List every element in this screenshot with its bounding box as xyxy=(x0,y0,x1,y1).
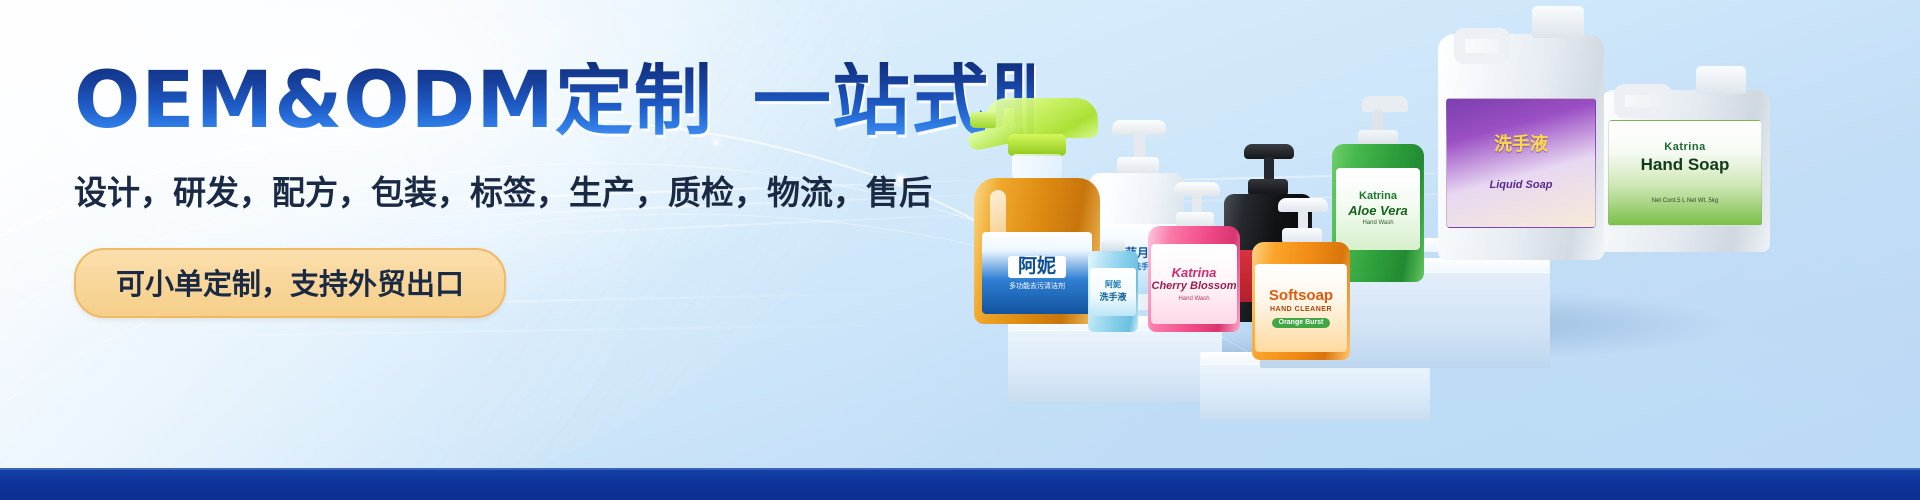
bottle-brand: Softsoap xyxy=(1269,288,1333,304)
jerry-can-label: Katrina Hand Soap Net Cont.5 L Net Wt. 5… xyxy=(1608,120,1762,226)
podium-front-middle xyxy=(1200,364,1430,420)
jerry-can-product: Liquid Soap xyxy=(1490,180,1553,192)
pump-stem xyxy=(1264,157,1274,181)
banner-headline: OEM&ODM定制一站式服务 xyxy=(74,62,1034,140)
product-purple-jerry-can[interactable]: 洗手液 Liquid Soap xyxy=(1438,6,1604,260)
jerry-can-brand: 洗手液 xyxy=(1494,135,1548,154)
spray-bottle-label: 阿妮 多功能去污清洁剂 xyxy=(982,232,1092,314)
product-cherry-blossom-wash[interactable]: Katrina Cherry Blossom Hand Wash xyxy=(1148,182,1240,332)
banner-text-block: OEM&ODM定制一站式服务 设计，研发，配方，包装，标签，生产，质检，物流，售… xyxy=(74,62,1034,318)
podium-front-left xyxy=(1008,330,1222,402)
headline-part-oem: OEM&ODM定制 xyxy=(74,56,713,146)
jerry-can-product: Hand Soap xyxy=(1641,156,1730,174)
jerry-can-brand: Katrina xyxy=(1664,142,1705,154)
product-green-jerry-can[interactable]: Katrina Hand Soap Net Cont.5 L Net Wt. 5… xyxy=(1600,66,1770,252)
bottle-type: Hand Wash xyxy=(1362,220,1393,226)
product-softsoap-orange[interactable]: Softsoap HAND CLEANER Orange Burst xyxy=(1252,198,1350,360)
jerry-can-cap xyxy=(1696,66,1746,94)
banner-subtitle: 设计，研发，配方，包装，标签，生产，质检，物流，售后 xyxy=(74,166,1034,214)
light-streak-7 xyxy=(60,323,960,339)
jerry-can-label: 洗手液 Liquid Soap xyxy=(1446,98,1596,228)
jerry-can-volume: Net Cont.5 L Net Wt. 5kg xyxy=(1652,198,1718,204)
sanitizer-brand: 阿妮 xyxy=(1105,281,1121,289)
product-showcase: Katrina Hand Soap Net Cont.5 L Net Wt. 5… xyxy=(960,0,1920,470)
bottle-variant: Orange Burst xyxy=(1272,318,1331,327)
spray-nozzle xyxy=(970,112,996,128)
bottle-product: HAND CLEANER xyxy=(1270,306,1332,313)
bottle-label: Katrina Cherry Blossom Hand Wash xyxy=(1151,244,1237,324)
bottle-type: Hand Wash xyxy=(1178,296,1209,302)
jerry-can-handle xyxy=(1614,84,1672,118)
sanitizer-product: 洗手液 xyxy=(1099,293,1126,302)
spray-brand: 阿妮 xyxy=(1008,256,1066,278)
custom-order-badge[interactable]: 可小单定制，支持外贸出口 xyxy=(74,248,506,318)
bottle-label: 阿妮 洗手液 xyxy=(1090,268,1136,316)
pump-stem xyxy=(1298,210,1308,230)
product-trigger-spray-bottle[interactable]: 阿妮 多功能去污清洁剂 xyxy=(952,98,1104,324)
pump-head xyxy=(1362,96,1408,112)
jerry-can-handle xyxy=(1454,28,1510,64)
bottle-label: Softsoap HAND CLEANER Orange Burst xyxy=(1255,264,1347,352)
product-hand-sanitizer-small[interactable]: 阿妮 洗手液 xyxy=(1088,240,1138,332)
bottle-brand: Katrina xyxy=(1172,266,1217,280)
spray-subtitle: 多功能去污清洁剂 xyxy=(1009,283,1065,290)
promo-banner: OEM&ODM定制一站式服务 设计，研发，配方，包装，标签，生产，质检，物流，售… xyxy=(0,0,1920,500)
bottle-product: Aloe Vera xyxy=(1348,204,1408,218)
spray-collar xyxy=(1008,134,1066,156)
bottle-product: Cherry Blossom xyxy=(1152,281,1237,293)
bottom-accent-bar xyxy=(0,468,1920,500)
jerry-can-cap xyxy=(1532,6,1584,38)
pump-stem xyxy=(1372,110,1383,132)
pump-stem xyxy=(1134,133,1145,159)
bottle-brand: Katrina xyxy=(1359,191,1397,203)
pump-stem xyxy=(1192,194,1202,214)
